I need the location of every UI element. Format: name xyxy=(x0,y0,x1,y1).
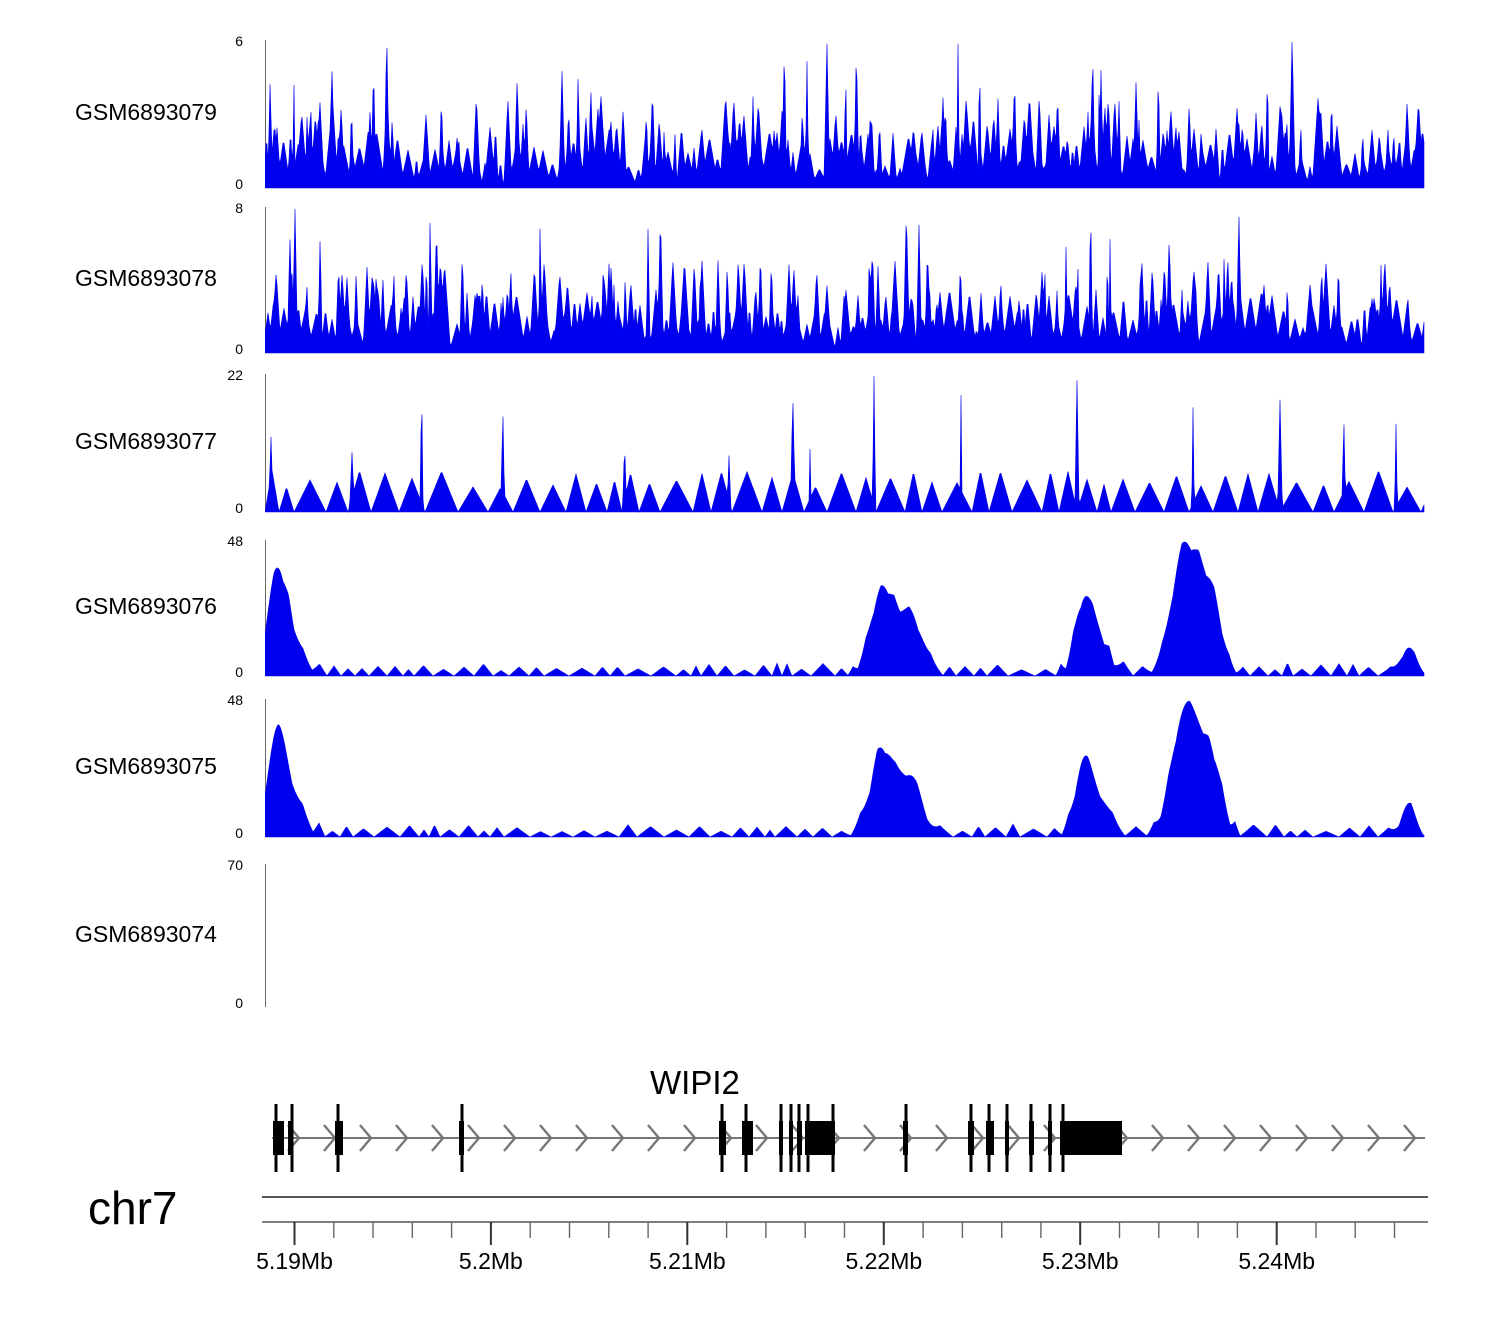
coverage-track: GSM6893076480 xyxy=(0,538,1500,676)
y-axis-min-label: 0 xyxy=(203,177,243,191)
gene-model-track[interactable]: WIPI2 xyxy=(0,1060,1500,1185)
y-axis-max-label: 8 xyxy=(203,201,243,215)
coverage-plot[interactable] xyxy=(265,38,1434,190)
coverage-signal xyxy=(265,542,1424,676)
track-label: GSM6893077 xyxy=(75,430,235,453)
y-axis-min-label: 0 xyxy=(203,826,243,840)
y-axis-max-label: 48 xyxy=(203,693,243,707)
y-axis-min-label: 0 xyxy=(203,342,243,356)
axis-tick-label: 5.24Mb xyxy=(1238,1250,1315,1273)
coverage-signal xyxy=(265,701,1424,837)
track-label: GSM6893079 xyxy=(75,101,235,124)
gene-name-label: WIPI2 xyxy=(650,1066,740,1099)
coverage-plot[interactable] xyxy=(265,538,1434,678)
coverage-track: GSM6893074700 xyxy=(0,862,1500,1007)
y-axis-max-label: 48 xyxy=(203,534,243,548)
genome-axis-svg xyxy=(0,1185,1500,1245)
y-axis-min-label: 0 xyxy=(203,665,243,679)
y-axis-min-label: 0 xyxy=(203,996,243,1010)
y-axis-max-label: 22 xyxy=(203,368,243,382)
axis-tick-label: 5.23Mb xyxy=(1042,1250,1119,1273)
coverage-signal xyxy=(265,209,1424,353)
genome-axis[interactable]: 5.19Mb5.2Mb5.21Mb5.22Mb5.23Mb5.24Mb xyxy=(0,1185,1500,1305)
y-axis-min-label: 0 xyxy=(203,501,243,515)
y-axis-max-label: 70 xyxy=(203,858,243,872)
coverage-signal xyxy=(265,376,1424,512)
axis-tick-label: 5.2Mb xyxy=(459,1250,523,1273)
coverage-track: GSM6893075480 xyxy=(0,697,1500,837)
coverage-plot[interactable] xyxy=(265,372,1434,514)
track-label: GSM6893074 xyxy=(75,923,235,946)
coverage-track: GSM6893077220 xyxy=(0,372,1500,512)
y-axis-max-label: 6 xyxy=(203,34,243,48)
axis-tick-label: 5.19Mb xyxy=(256,1250,333,1273)
track-label: GSM6893075 xyxy=(75,755,235,778)
axis-tick-label: 5.21Mb xyxy=(649,1250,726,1273)
coverage-signal xyxy=(265,42,1424,188)
coverage-track: GSM689307960 xyxy=(0,38,1500,188)
track-label: GSM6893078 xyxy=(75,267,235,290)
coverage-plot[interactable] xyxy=(265,862,1434,1009)
gene-model-svg[interactable] xyxy=(0,1060,1500,1185)
track-label: GSM6893076 xyxy=(75,595,235,618)
exon-block[interactable] xyxy=(1060,1121,1122,1155)
coverage-plot[interactable] xyxy=(265,205,1434,355)
coverage-track: GSM689307880 xyxy=(0,205,1500,353)
axis-tick-label: 5.22Mb xyxy=(845,1250,922,1273)
coverage-plot[interactable] xyxy=(265,697,1434,839)
